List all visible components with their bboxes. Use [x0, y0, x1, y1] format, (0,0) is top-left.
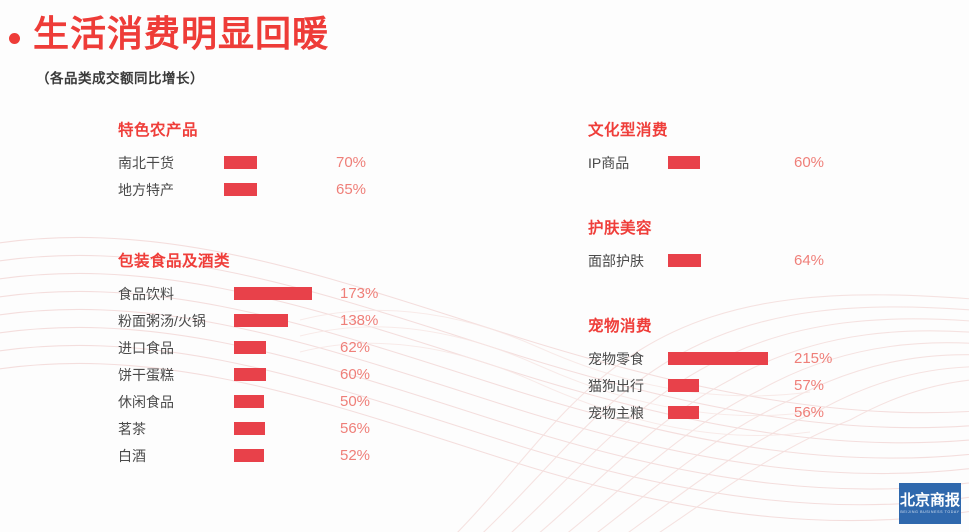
group-rows: 食品饮料 173% 粉面粥汤/火锅 138% 进口食品 [118, 280, 538, 469]
bar-row-value: 138% [336, 312, 410, 329]
bar-row-label: 白酒 [118, 446, 234, 466]
bar-row: 南北干货 70% [118, 149, 538, 176]
bar-fill [234, 341, 266, 354]
bar-track [234, 422, 336, 435]
bar-fill [224, 183, 257, 196]
bar-row-value: 50% [336, 393, 410, 410]
group-pet-consumption: 宠物消费 宠物零食 215% 猫狗出行 57% 宠物主粮 [588, 314, 958, 426]
bar-row-label: 面部护肤 [588, 251, 668, 271]
group-title: 护肤美容 [588, 216, 958, 238]
bar-row-value: 62% [336, 339, 410, 356]
bar-row-value: 64% [790, 252, 864, 269]
bar-fill [668, 406, 699, 419]
bar-row-label: 茗茶 [118, 419, 234, 439]
bar-row: IP商品 60% [588, 149, 958, 176]
bar-row-value: 60% [790, 154, 864, 171]
bar-row-label: 饼干蛋糕 [118, 365, 234, 385]
spacer [588, 274, 958, 314]
bar-row: 猫狗出行 57% [588, 372, 958, 399]
group-title: 包装食品及酒类 [118, 249, 538, 271]
bar-track [234, 368, 336, 381]
publisher-logo-en: BEIJING BUSINESS TODAY [900, 509, 959, 516]
bar-row-value: 56% [336, 420, 410, 437]
bar-row: 食品饮料 173% [118, 280, 538, 307]
bar-row-value: 56% [790, 404, 864, 421]
bar-row-label: 宠物零食 [588, 349, 668, 369]
group-cultural-consumption: 文化型消费 IP商品 60% [588, 118, 958, 176]
bar-row-value: 173% [336, 285, 410, 302]
bar-row: 面部护肤 64% [588, 247, 958, 274]
bar-fill [668, 379, 699, 392]
bar-track [668, 156, 790, 169]
group-skincare-beauty: 护肤美容 面部护肤 64% [588, 216, 958, 274]
group-agricultural-products: 特色农产品 南北干货 70% 地方特产 65% [118, 118, 538, 203]
bar-row-label: 进口食品 [118, 338, 234, 358]
bar-row: 宠物零食 215% [588, 345, 958, 372]
bar-row-label: 食品饮料 [118, 284, 234, 304]
bar-row-value: 65% [332, 181, 406, 198]
page-subtitle: （各品类成交额同比增长） [36, 67, 204, 87]
bar-track [668, 352, 790, 365]
bar-track [234, 449, 336, 462]
bar-row-label: IP商品 [588, 153, 668, 173]
bar-row-label: 猫狗出行 [588, 376, 668, 396]
left-column: 特色农产品 南北干货 70% 地方特产 65% [118, 118, 538, 469]
bar-row-value: 70% [332, 154, 406, 171]
group-rows: 南北干货 70% 地方特产 65% [118, 149, 538, 203]
bar-track [668, 254, 790, 267]
right-column: 文化型消费 IP商品 60% 护肤美容 面部护肤 [588, 118, 958, 426]
group-title: 特色农产品 [118, 118, 538, 140]
group-rows: 宠物零食 215% 猫狗出行 57% 宠物主粮 [588, 345, 958, 426]
bar-track [234, 341, 336, 354]
bar-fill [234, 395, 264, 408]
bar-track [224, 183, 332, 196]
group-packaged-food-and-liquor: 包装食品及酒类 食品饮料 173% 粉面粥汤/火锅 138% [118, 249, 538, 469]
bar-fill [224, 156, 257, 169]
bar-row: 休闲食品 50% [118, 388, 538, 415]
spacer [588, 176, 958, 216]
bar-track [234, 314, 336, 327]
infographic-poster: 生活消费明显回暖 （各品类成交额同比增长） 特色农产品 南北干货 70% 地方特… [0, 0, 969, 532]
publisher-logo-cn: 北京商报 [900, 491, 960, 509]
bar-row: 白酒 52% [118, 442, 538, 469]
bar-track [234, 287, 336, 300]
bar-row: 进口食品 62% [118, 334, 538, 361]
bullet-dot-icon [9, 33, 20, 44]
bar-track [668, 379, 790, 392]
bar-fill [668, 254, 701, 267]
bar-row-label: 宠物主粮 [588, 403, 668, 423]
bar-track [234, 395, 336, 408]
bar-row-value: 215% [790, 350, 864, 367]
bar-row-label: 地方特产 [118, 180, 224, 200]
bar-row-label: 南北干货 [118, 153, 224, 173]
bar-row: 茗茶 56% [118, 415, 538, 442]
bar-track [668, 406, 790, 419]
bar-fill [234, 422, 265, 435]
bar-row-value: 52% [336, 447, 410, 464]
group-rows: IP商品 60% [588, 149, 958, 176]
bar-fill [234, 368, 266, 381]
bar-fill [234, 314, 288, 327]
bar-row-value: 57% [790, 377, 864, 394]
spacer [118, 203, 538, 249]
bar-fill [234, 287, 312, 300]
bar-row-label: 休闲食品 [118, 392, 234, 412]
bar-fill [668, 352, 768, 365]
publisher-logo: 北京商报 BEIJING BUSINESS TODAY [899, 483, 961, 524]
bar-row: 粉面粥汤/火锅 138% [118, 307, 538, 334]
page-title: 生活消费明显回暖 [33, 11, 329, 57]
bar-row: 宠物主粮 56% [588, 399, 958, 426]
bar-row: 地方特产 65% [118, 176, 538, 203]
group-title: 文化型消费 [588, 118, 958, 140]
group-rows: 面部护肤 64% [588, 247, 958, 274]
group-title: 宠物消费 [588, 314, 958, 336]
bar-row-value: 60% [336, 366, 410, 383]
bar-fill [668, 156, 700, 169]
bar-row-label: 粉面粥汤/火锅 [118, 311, 234, 331]
bar-fill [234, 449, 264, 462]
bar-track [224, 156, 332, 169]
bar-row: 饼干蛋糕 60% [118, 361, 538, 388]
